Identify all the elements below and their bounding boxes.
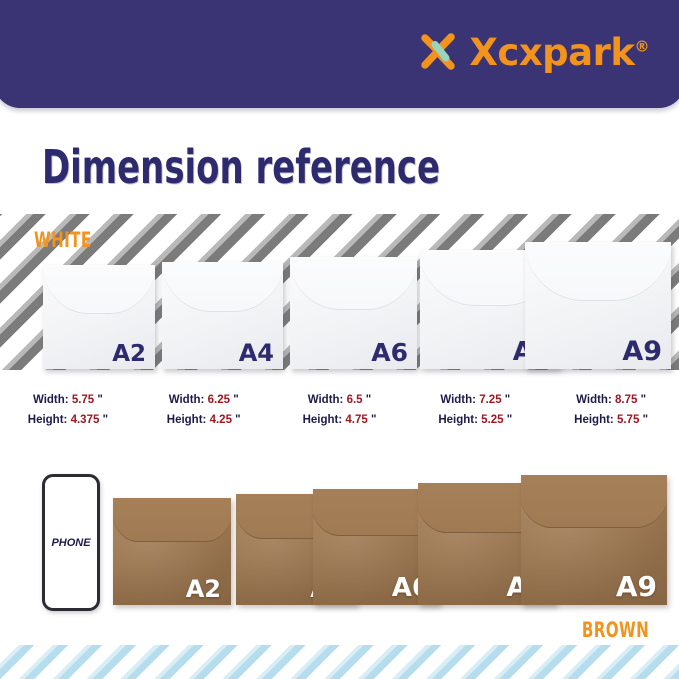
envelope-code: A9 [616, 570, 657, 603]
envelope-code: A2 [186, 575, 221, 603]
brown-envelope-row: A2 A4 A6 A7 A9 [0, 0, 679, 679]
envelope-flap [113, 498, 231, 542]
envelope-flap [521, 475, 667, 528]
envelope-brown-a9: A9 [521, 475, 667, 605]
blue-stripe-band [0, 645, 679, 679]
envelope-brown-a2: A2 [113, 498, 231, 605]
brown-section-label: BROWN [582, 618, 649, 642]
